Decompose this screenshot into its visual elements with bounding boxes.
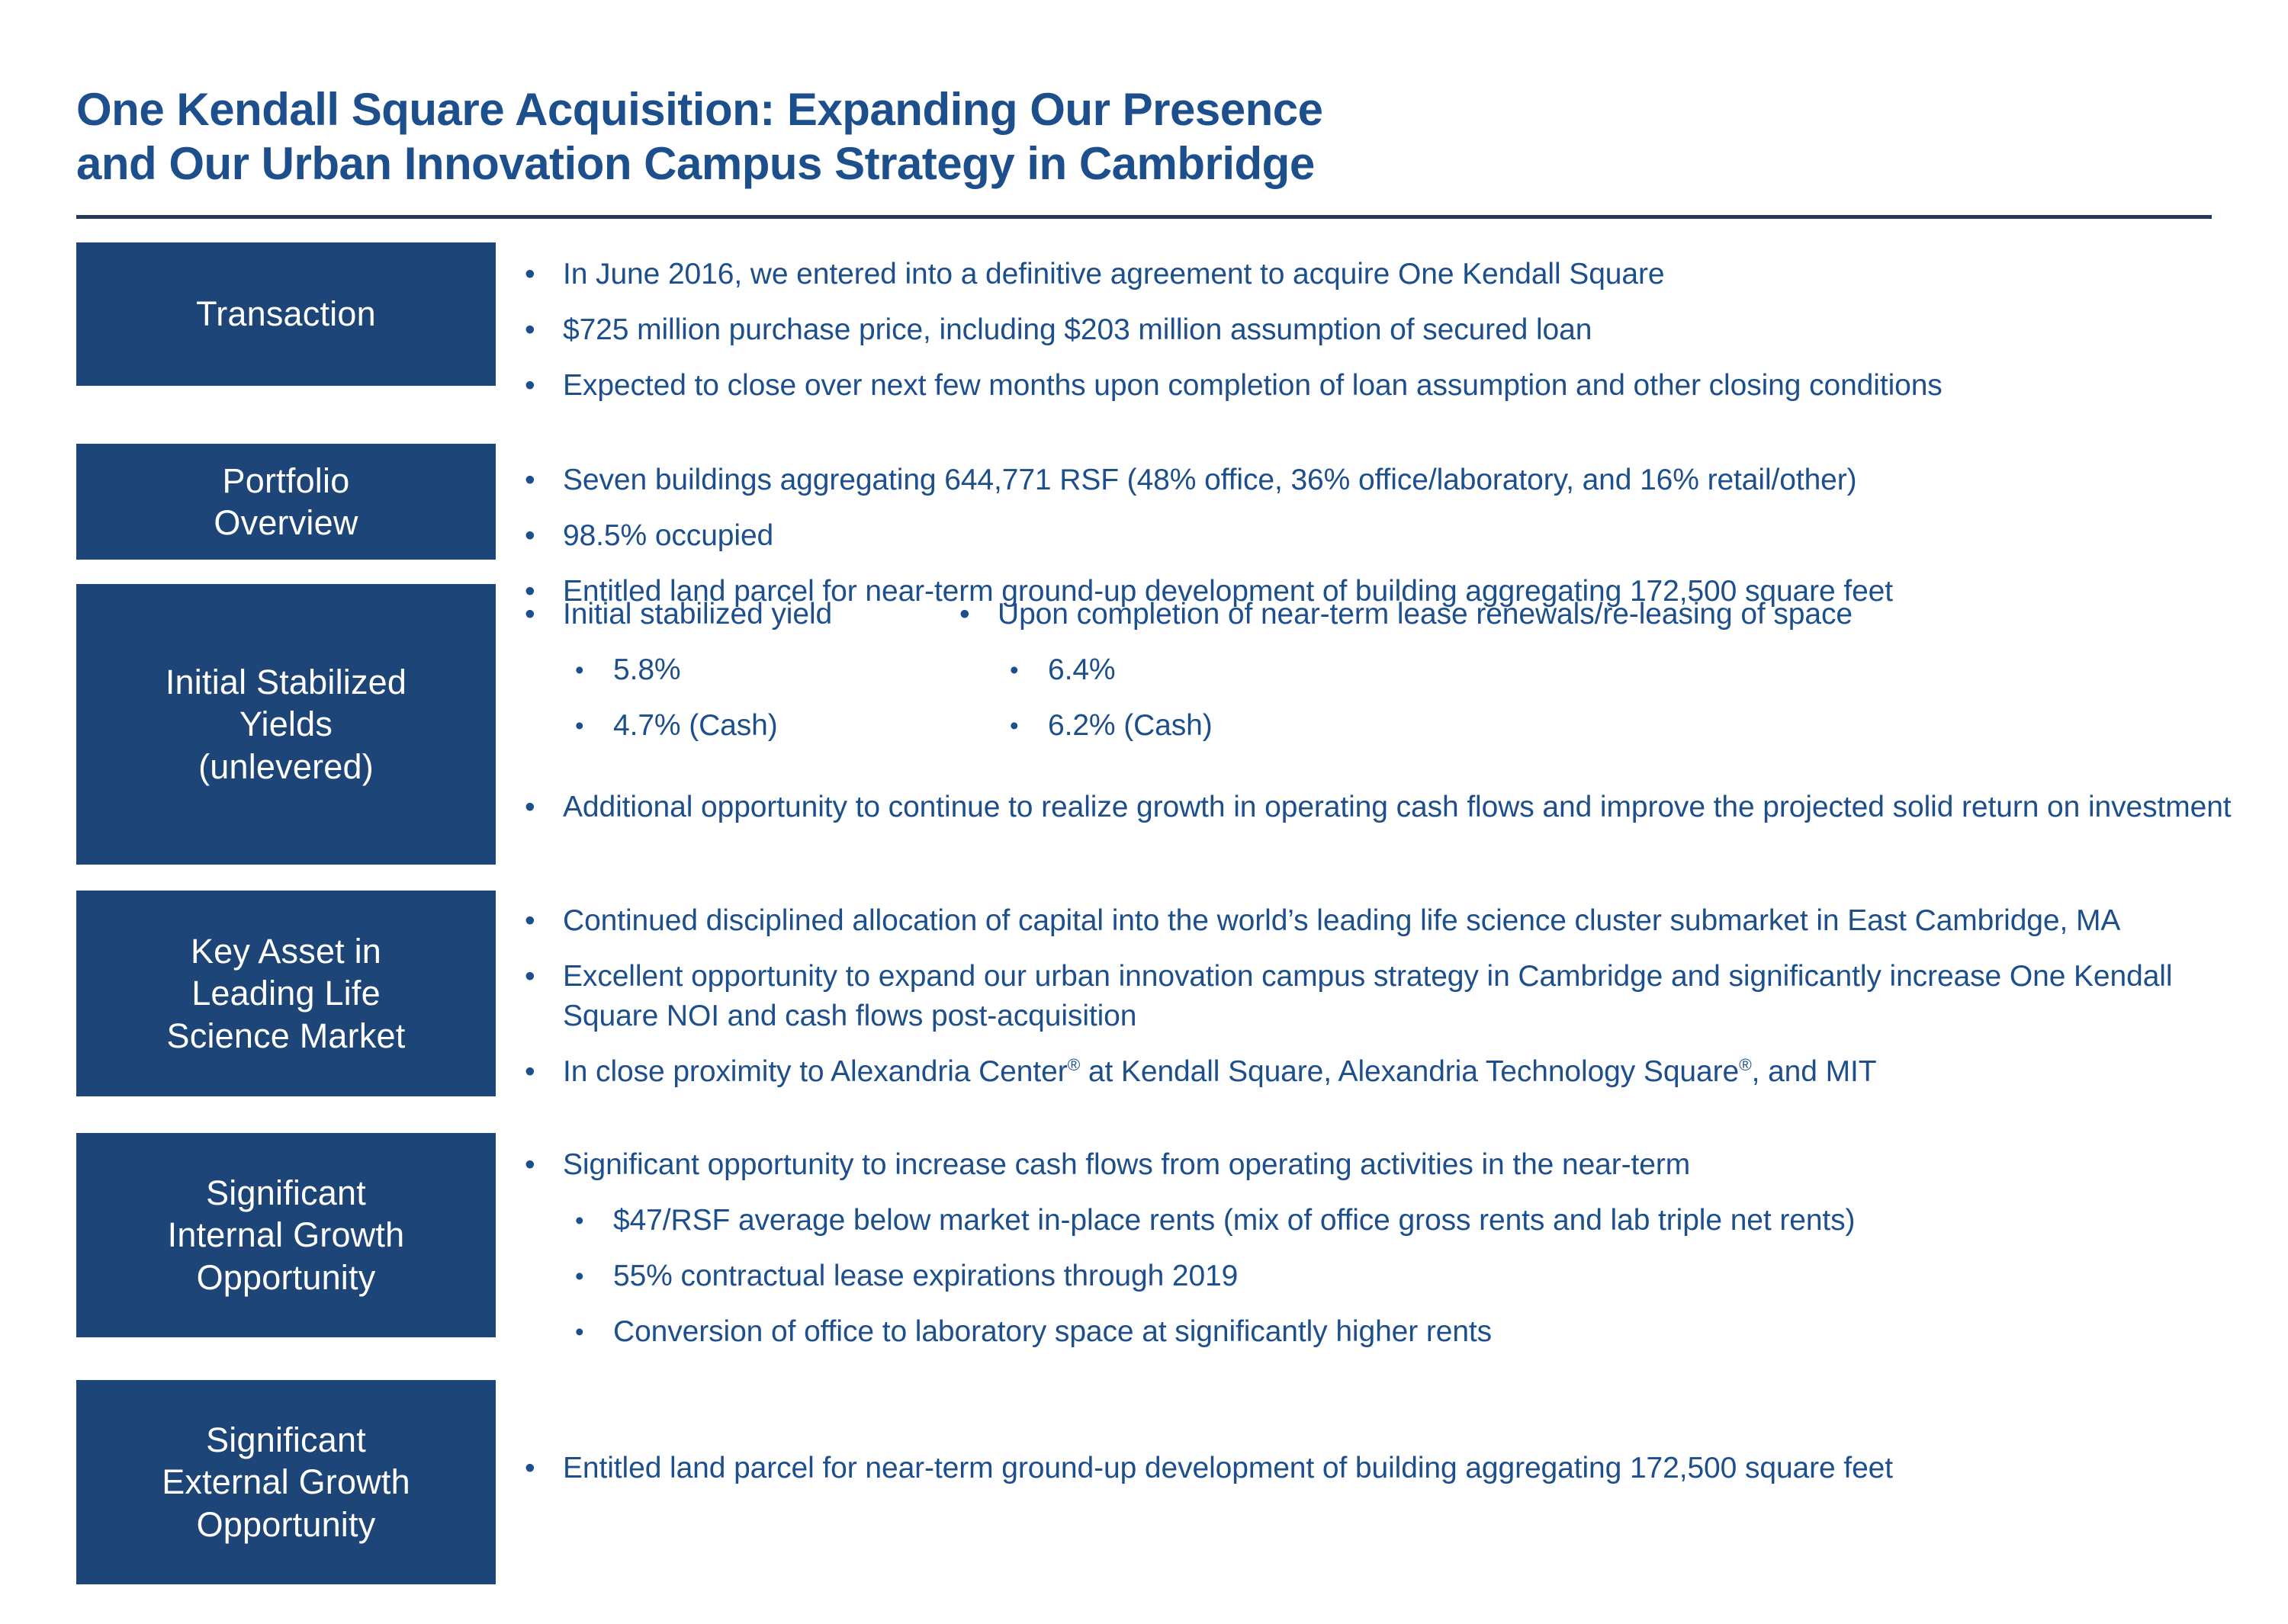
section-label-initial-stabilized-yields: Initial Stabilized Yields (unlevered): [76, 584, 496, 865]
bullet-text: Significant opportunity to increase cash…: [563, 1148, 1690, 1181]
bullet-text: Expected to close over next few months u…: [563, 369, 1943, 402]
sub-bullet-text: 6.4%: [1048, 653, 1116, 686]
sub-bullet-text: 5.8%: [613, 653, 681, 686]
bullet-text: In close proximity to Alexandria Center®…: [563, 1055, 1876, 1088]
bullet-text: Excellent opportunity to expand our urba…: [563, 960, 2172, 1032]
bullet-item: • Initial stabilized yield: [513, 595, 947, 634]
spacer: [513, 1036, 2259, 1052]
page-title-line-2: and Our Urban Innovation Campus Strategy…: [76, 136, 1830, 191]
section-bullets-external-growth: • Entitled land parcel for near-term gro…: [513, 1449, 2259, 1488]
section-bullets-portfolio-overview: • Seven buildings aggregating 644,771 RS…: [513, 461, 2259, 611]
bullet-text: In June 2016, we entered into a definiti…: [563, 258, 1664, 290]
bullet-item: • $725 million purchase price, including…: [513, 310, 2259, 350]
bullet-dot-icon: •: [525, 1052, 535, 1092]
sub-bullet-text: $47/RSF average below market in-place re…: [613, 1204, 1855, 1237]
spacer: [513, 941, 2259, 957]
bullet-item: • Expected to close over next few months…: [513, 366, 2259, 406]
page-title: One Kendall Square Acquisition: Expandin…: [76, 82, 1830, 191]
bullet-item: • Entitled land parcel for near-term gro…: [513, 1449, 2259, 1488]
spacer: [947, 690, 2259, 706]
bullet-dot-icon: •: [1010, 706, 1018, 745]
bullet-item: • Excellent opportunity to expand our ur…: [513, 957, 2259, 1036]
spacer: [513, 500, 2259, 516]
section-label-portfolio-overview: Portfolio Overview: [76, 444, 496, 560]
spacer: [513, 1240, 2259, 1257]
bullet-text: Seven buildings aggregating 644,771 RSF …: [563, 464, 1857, 496]
spacer: [513, 746, 2259, 788]
section-label-key-asset: Key Asset in Leading Life Science Market: [76, 891, 496, 1096]
bullet-item: • In close proximity to Alexandria Cente…: [513, 1052, 2259, 1092]
spacer: [513, 1296, 2259, 1312]
sub-bullet-item: • 5.8%: [513, 650, 947, 690]
section-label-transaction: Transaction: [76, 242, 496, 386]
yields-column-initial: • Initial stabilized yield • 5.8% • 4.7%…: [513, 595, 947, 746]
bullet-dot-icon: •: [525, 366, 535, 406]
sub-bullet-item: • 6.2% (Cash): [947, 706, 2259, 746]
section-bullets-key-asset: • Continued disciplined allocation of ca…: [513, 901, 2259, 1091]
bullet-dot-icon: •: [525, 310, 535, 350]
bullet-dot-icon: •: [575, 650, 583, 689]
sub-bullet-text: 6.2% (Cash): [1048, 709, 1213, 742]
bullet-item: • Upon completion of near-term lease ren…: [947, 595, 2259, 634]
bullet-dot-icon: •: [525, 1449, 535, 1488]
bullet-dot-icon: •: [525, 901, 535, 941]
section-bullets-initial-stabilized-yields: • Initial stabilized yield • 5.8% • 4.7%…: [513, 595, 2259, 826]
bullet-dot-icon: •: [575, 1257, 583, 1295]
bullet-item: • Significant opportunity to increase ca…: [513, 1145, 2259, 1185]
yields-column-upon-completion: • Upon completion of near-term lease ren…: [947, 595, 2259, 746]
bullet-dot-icon: •: [525, 788, 535, 827]
slide-root: One Kendall Square Acquisition: Expandin…: [0, 0, 2288, 1624]
sub-bullet-text: Conversion of office to laboratory space…: [613, 1315, 1492, 1348]
bullet-dot-icon: •: [525, 1145, 535, 1185]
bullet-item: • 98.5% occupied: [513, 516, 2259, 556]
section-label-internal-growth: Significant Internal Growth Opportunity: [76, 1133, 496, 1337]
bullet-dot-icon: •: [575, 1201, 583, 1240]
bullet-dot-icon: •: [575, 706, 583, 745]
bullet-text: $725 million purchase price, including $…: [563, 313, 1592, 346]
spacer: [513, 1185, 2259, 1201]
bullet-dot-icon: •: [525, 461, 535, 500]
section-bullets-transaction: • In June 2016, we entered into a defini…: [513, 255, 2259, 406]
sub-bullet-item: • 55% contractual lease expirations thro…: [513, 1257, 2259, 1296]
yields-two-column-group: • Initial stabilized yield • 5.8% • 4.7%…: [513, 595, 2259, 746]
spacer: [513, 634, 947, 650]
bullet-dot-icon: •: [575, 1312, 583, 1351]
bullet-text: Entitled land parcel for near-term groun…: [563, 1452, 1893, 1484]
sub-bullet-text: 4.7% (Cash): [613, 709, 778, 742]
page-title-line-1: One Kendall Square Acquisition: Expandin…: [76, 82, 1830, 136]
bullet-dot-icon: •: [1010, 650, 1018, 689]
spacer: [947, 634, 2259, 650]
bullet-dot-icon: •: [959, 595, 970, 634]
bullet-text: Upon completion of near-term lease renew…: [998, 598, 1853, 631]
bullet-dot-icon: •: [525, 255, 535, 294]
sub-bullet-item: • Conversion of office to laboratory spa…: [513, 1312, 2259, 1352]
sub-bullet-text: 55% contractual lease expirations throug…: [613, 1260, 1238, 1292]
bullet-dot-icon: •: [525, 595, 535, 634]
section-label-external-growth: Significant External Growth Opportunity: [76, 1380, 496, 1584]
bullet-text: Initial stabilized yield: [563, 598, 832, 631]
bullet-text: Additional opportunity to continue to re…: [563, 791, 2232, 823]
bullet-text: Continued disciplined allocation of capi…: [563, 904, 2120, 937]
title-divider-rule: [76, 215, 2212, 219]
bullet-text: 98.5% occupied: [563, 519, 773, 552]
spacer: [513, 556, 2259, 572]
sub-bullet-item: • $47/RSF average below market in-place …: [513, 1201, 2259, 1240]
sub-bullet-item: • 6.4%: [947, 650, 2259, 690]
sub-bullet-item: • 4.7% (Cash): [513, 706, 947, 746]
bullet-item: • In June 2016, we entered into a defini…: [513, 255, 2259, 294]
bullet-item: • Additional opportunity to continue to …: [513, 788, 2259, 827]
bullet-dot-icon: •: [525, 957, 535, 997]
bullet-item: • Continued disciplined allocation of ca…: [513, 901, 2259, 941]
section-bullets-internal-growth: • Significant opportunity to increase ca…: [513, 1145, 2259, 1351]
spacer: [513, 294, 2259, 310]
bullet-dot-icon: •: [525, 516, 535, 556]
spacer: [513, 350, 2259, 366]
spacer: [513, 690, 947, 706]
bullet-item: • Seven buildings aggregating 644,771 RS…: [513, 461, 2259, 500]
